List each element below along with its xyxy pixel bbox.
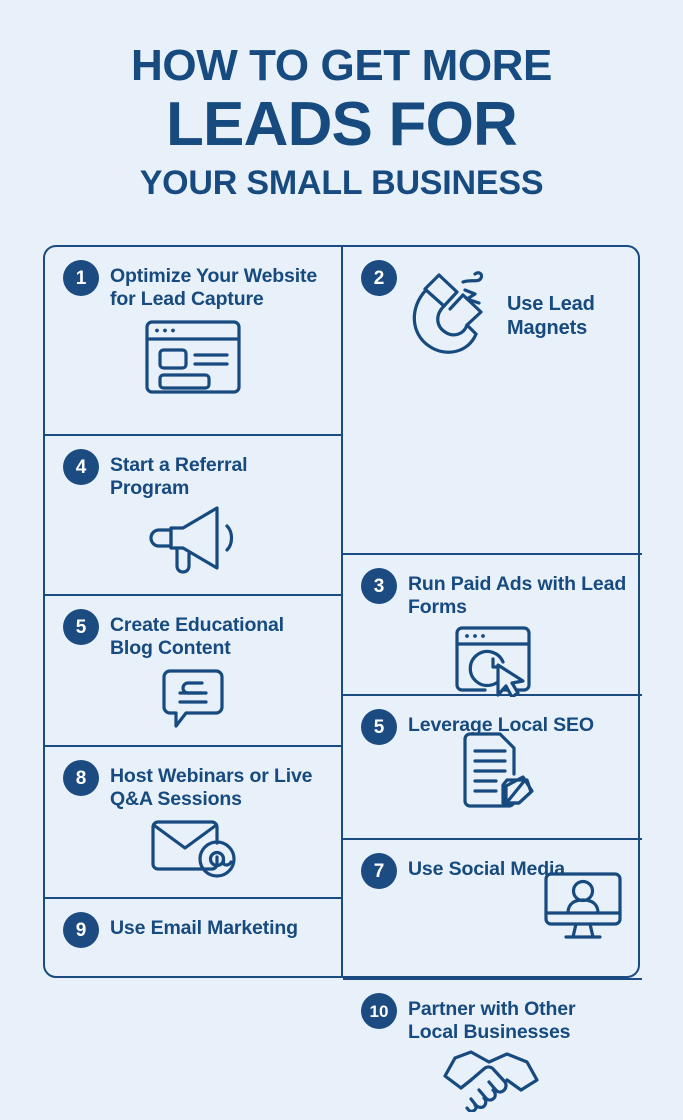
tip-8-label: Host Webinars or Live Q&A Sessions xyxy=(110,760,327,811)
browser-window-form-icon xyxy=(45,317,341,397)
megaphone-icon xyxy=(45,502,341,574)
speech-bubble-icon xyxy=(45,666,341,730)
tip-8-header: 8 Host Webinars or Live Q&A Sessions xyxy=(45,747,341,811)
tips-left-column: 1 Optimize Your Website for Lead Capture xyxy=(45,247,341,976)
title-line-3: YOUR SMALL BUSINESS xyxy=(0,166,683,200)
tips-right-column: 2 Use Lead Magnets xyxy=(341,247,642,976)
tips-grid: 1 Optimize Your Website for Lead Capture xyxy=(43,245,640,978)
tip-card-5-left[interactable]: 5 Create Educational Blog Content xyxy=(45,596,341,747)
magnet-icon xyxy=(401,268,497,365)
tip-3-number-badge: 3 xyxy=(361,568,397,604)
tip-card-2[interactable]: 2 Use Lead Magnets xyxy=(343,247,642,555)
tip-5-left-label: Create Educational Blog Content xyxy=(110,609,327,660)
title-line-2: LEADS FOR xyxy=(0,94,683,156)
tip-9-label: Use Email Marketing xyxy=(110,912,298,940)
tip-1-number-badge: 1 xyxy=(63,260,99,296)
tip-5-left-header: 5 Create Educational Blog Content xyxy=(45,596,341,660)
envelope-at-icon xyxy=(45,817,341,881)
tip-3-label: Run Paid Ads with Lead Forms xyxy=(408,568,628,619)
tip-10-label: Partner with Other Local Businesses xyxy=(408,993,628,1044)
tip-card-7[interactable]: 7 Use Social Media xyxy=(343,840,642,980)
tip-card-1[interactable]: 1 Optimize Your Website for Lead Capture xyxy=(45,247,341,436)
tip-8-number-badge: 8 xyxy=(63,760,99,796)
handshake-icon xyxy=(343,1046,642,1112)
browser-cursor-icon xyxy=(343,623,642,697)
tip-card-4[interactable]: 4 Start a Referral Program xyxy=(45,436,341,596)
tip-card-9[interactable]: 9 Use Email Marketing xyxy=(45,899,341,975)
tip-1-label: Optimize Your Website for Lead Capture xyxy=(110,260,327,311)
tip-9-header: 9 Use Email Marketing xyxy=(45,899,341,948)
tip-card-5-right[interactable]: 5 Leverage Local SEO xyxy=(343,696,642,840)
tip-1-header: 1 Optimize Your Website for Lead Capture xyxy=(45,247,341,311)
tip-10-header: 10 Partner with Other Local Businesses xyxy=(343,980,642,1044)
tip-5-right-number-badge: 5 xyxy=(361,709,397,745)
tip-4-number-badge: 4 xyxy=(63,449,99,485)
tip-card-10[interactable]: 10 Partner with Other Local Businesses xyxy=(343,980,642,1120)
tip-5-left-number-badge: 5 xyxy=(63,609,99,645)
tip-4-header: 4 Start a Referral Program xyxy=(45,436,341,500)
title-line-1: HOW TO GET MORE xyxy=(0,44,683,88)
tip-2-label: Use Lead Magnets xyxy=(507,293,628,340)
tip-2-number-badge: 2 xyxy=(361,260,397,296)
tip-4-label: Start a Referral Program xyxy=(110,449,327,500)
tip-card-8[interactable]: 8 Host Webinars or Live Q&A Sessions xyxy=(45,747,341,899)
tip-card-3[interactable]: 3 Run Paid Ads with Lead Forms xyxy=(343,555,642,696)
tip-9-number-badge: 9 xyxy=(63,912,99,948)
tip-7-number-badge: 7 xyxy=(361,853,397,889)
tip-3-header: 3 Run Paid Ads with Lead Forms xyxy=(343,555,642,619)
page-title: HOW TO GET MORE LEADS FOR YOUR SMALL BUS… xyxy=(0,44,683,200)
